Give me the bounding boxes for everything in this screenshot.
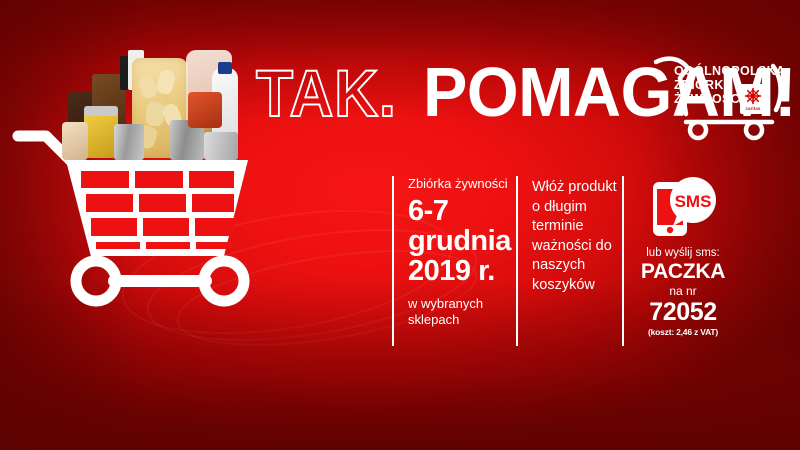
sms-mid: na nr (634, 284, 732, 299)
column-sms: SMS lub wyślij sms: PACZKA na nr 72052 (… (624, 176, 732, 346)
groceries-photo (62, 46, 252, 164)
instruction-text: Włóż produkt o długim terminie ważności … (532, 176, 622, 295)
headline-word-tak: TAK. (256, 55, 397, 131)
brand-line-1: OGÓLNOPOLSKA (674, 64, 766, 78)
poster-canvas: TAK. POMAGAM! OGÓLNOPOLSKA ZBIÓRKA ŻYWNO… (0, 0, 800, 450)
sms-phone-icon: SMS (647, 176, 719, 238)
sms-number: 72052 (634, 299, 732, 326)
sms-fine-print: (koszt: 2,46 z VAT) (634, 327, 732, 338)
info-columns: Zbiórka żywności 6-7 grudnia 2019 r. w w… (392, 176, 732, 346)
column-instruction: Włóż produkt o długim terminie ważności … (518, 176, 622, 346)
date-line-1: 6-7 (408, 196, 516, 226)
brand-logo: OGÓLNOPOLSKA ZBIÓRKA ŻYWNOŚCI (650, 52, 790, 144)
date-footer-1: w wybranych (408, 296, 516, 312)
svg-text:SMS: SMS (675, 192, 712, 211)
sms-code: PACZKA (634, 260, 732, 284)
date-line-3: 2019 r. (408, 256, 516, 286)
caritas-wordmark: caritas (746, 106, 761, 111)
column-date: Zbiórka żywności 6-7 grudnia 2019 r. w w… (394, 176, 516, 346)
caritas-burst-icon (744, 87, 762, 105)
date-footer-2: sklepach (408, 312, 516, 328)
sms-kicker: lub wyślij sms: (634, 246, 732, 260)
date-line-2: grudnia (408, 226, 516, 256)
caritas-logo: caritas (740, 84, 766, 114)
date-kicker: Zbiórka żywności (408, 176, 516, 192)
